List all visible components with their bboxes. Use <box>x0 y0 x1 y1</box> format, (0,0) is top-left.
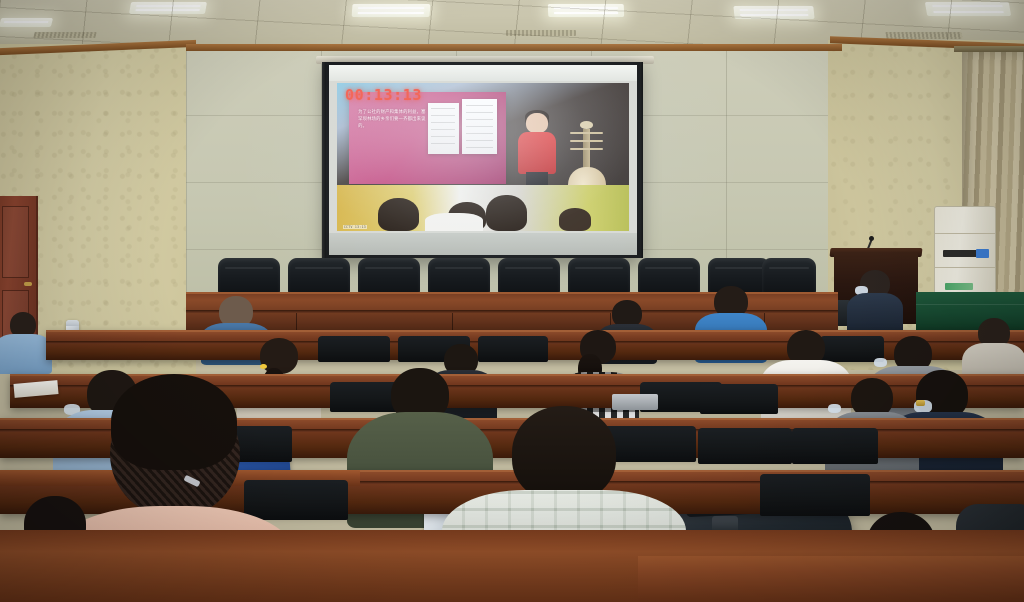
video-watermark: CCTV 13:13 <box>343 225 367 229</box>
pipa-peg <box>570 148 603 151</box>
bench-seat[interactable] <box>760 474 870 516</box>
ceiling-light-panel <box>352 4 431 17</box>
stage-chair[interactable] <box>428 258 490 294</box>
presenter-head <box>526 113 547 133</box>
countdown-timer: 00:13:13 <box>345 86 422 104</box>
stage-chair[interactable] <box>638 258 700 294</box>
video-student-head <box>559 208 591 231</box>
door-panel-upper <box>2 206 29 278</box>
ceiling-air-vent <box>33 32 96 38</box>
ac-display-badge <box>976 249 989 258</box>
stage-chair[interactable] <box>288 258 350 294</box>
slide-document-right <box>462 99 497 154</box>
person-lightblue-left-far <box>0 312 52 372</box>
stage-chair[interactable] <box>358 258 420 294</box>
video-student-head <box>486 195 527 231</box>
video-playback-area: 为了公社的财产和集体的利益，塞罕坝林场的乡亲们要一齐都出来议的。 <box>337 83 629 231</box>
document-lines <box>466 105 492 149</box>
microphone-head-icon <box>869 236 874 241</box>
slide-text: 为了公社的财产和集体的利益，塞罕坝林场的乡亲们要一齐都出来议的。 <box>358 110 427 130</box>
head <box>111 374 237 470</box>
person-dark-podium <box>846 270 904 336</box>
slide-document-left <box>428 103 460 154</box>
bench-seat[interactable] <box>318 336 390 362</box>
document-lines <box>431 108 455 149</box>
pipa-peg <box>570 132 603 135</box>
ceiling-light-panel <box>925 2 1011 16</box>
video-student-shoulders <box>425 213 483 231</box>
conference-hall-photo: 为了公社的财产和集体的利益，塞罕坝林场的乡亲们要一齐都出来议的。 <box>0 0 1024 602</box>
ac-vent-grille <box>943 250 977 257</box>
stage-chair[interactable] <box>218 258 280 294</box>
stage-chair[interactable] <box>762 258 816 294</box>
stage-chair[interactable] <box>498 258 560 294</box>
ceiling-light-panel <box>0 18 53 27</box>
projection-surface: 为了公社的财产和集体的利益，塞罕坝林场的乡亲们要一齐都出来议的。 <box>329 65 637 255</box>
ceiling-air-vent <box>506 30 576 36</box>
bench-seat[interactable] <box>698 428 792 464</box>
bench-seat[interactable] <box>792 428 878 464</box>
screen-top-band <box>329 65 637 81</box>
bench-seat[interactable] <box>700 384 778 414</box>
presenter-red-top <box>518 132 556 175</box>
ac-brand-logo <box>945 283 973 290</box>
face-mask <box>828 404 841 413</box>
ceiling-light-panel <box>733 6 814 19</box>
ceiling-light-panel <box>548 4 624 17</box>
video-student-head <box>378 198 419 231</box>
stage-chair[interactable] <box>568 258 630 294</box>
ac-seam <box>935 233 995 234</box>
cornice-trim-back <box>186 44 842 51</box>
presentation-slide: 为了公社的财产和集体的利益，塞罕坝林场的乡亲们要一齐都出来议的。 <box>349 92 507 184</box>
projection-screen: 为了公社的财产和集体的利益，塞罕坝林场的乡亲们要一齐都出来议的。 <box>326 62 640 258</box>
face-mask <box>874 358 887 367</box>
torso <box>0 334 52 374</box>
screen-bottom-band <box>329 233 637 255</box>
bottle-cap <box>66 320 79 326</box>
video-lower-strip: CCTV 13:13 <box>337 185 629 231</box>
hair-tie <box>260 364 267 369</box>
desk-surface-foreground <box>638 556 1024 602</box>
pipa-peg <box>570 140 603 143</box>
door-handle-icon[interactable] <box>24 282 32 286</box>
ac-seam <box>935 267 995 268</box>
pipa-scroll <box>580 121 594 129</box>
head <box>512 406 616 502</box>
ceiling-light-panel <box>129 2 207 14</box>
